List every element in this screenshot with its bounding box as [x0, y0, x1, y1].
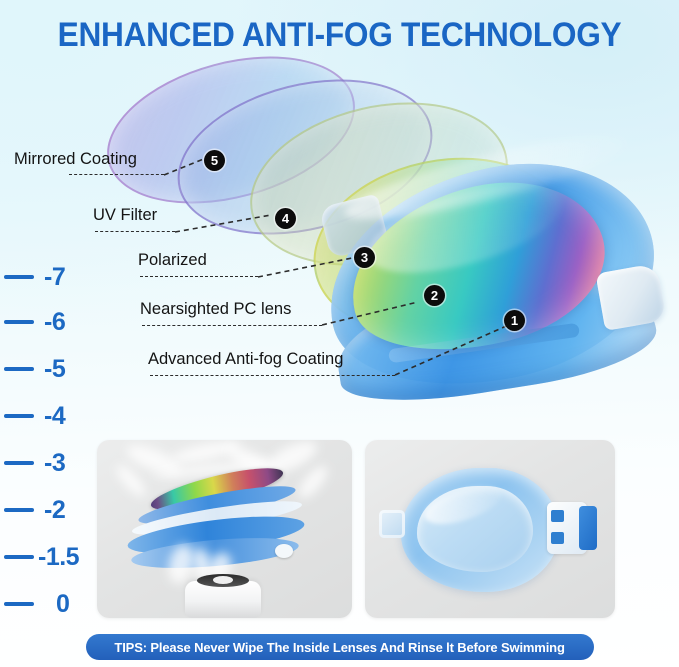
- callout-leader-diagonal: [175, 206, 273, 236]
- scale-row: -5: [0, 354, 65, 384]
- scale-row: -1.5: [0, 542, 79, 572]
- scale-tick-icon: [4, 367, 34, 371]
- scale-row: -2: [0, 495, 65, 525]
- scale-value: -7: [44, 263, 65, 292]
- callout-label: Polarized: [138, 251, 207, 270]
- fog-test-photo: [97, 440, 352, 618]
- callout-leader-diagonal: [395, 318, 513, 378]
- callout-badge: 3: [354, 247, 375, 268]
- scale-value: -6: [44, 308, 65, 337]
- scale-tick-icon: [4, 461, 34, 465]
- callout-leader-diagonal: [164, 148, 208, 178]
- callout-badge: 4: [275, 208, 296, 229]
- scale-value: 0: [56, 590, 69, 619]
- steam-wisp-icon: [112, 461, 149, 500]
- scale-value: -1.5: [38, 543, 79, 572]
- scale-value: -4: [44, 402, 65, 431]
- scale-row: -6: [0, 307, 65, 337]
- callout-leader-line: [150, 375, 395, 376]
- buckle-slot-icon: [551, 510, 564, 522]
- inside-lens-photo: [365, 440, 615, 618]
- infographic-canvas: ENHANCED ANTI-FOG TECHNOLOGY -7 -6 -5 -4…: [0, 0, 679, 667]
- scale-tick-icon: [4, 555, 34, 559]
- callout-badge: 2: [424, 285, 445, 306]
- scale-tick-icon: [4, 508, 34, 512]
- swim-goggle-product: [300, 140, 679, 420]
- photo-goggle-clip: [275, 544, 293, 558]
- callout-leader-line: [142, 325, 322, 326]
- callout-label: Advanced Anti-fog Coating: [148, 350, 343, 369]
- steam-wisp-icon: [294, 462, 332, 503]
- callout-leader-line: [95, 231, 175, 232]
- callout-label: Mirrored Coating: [14, 150, 137, 169]
- scale-row: 0: [0, 589, 69, 619]
- callout-badge: 5: [204, 150, 225, 171]
- scale-tick-icon: [4, 275, 34, 279]
- photo-strap-buckle-left: [379, 510, 405, 538]
- scale-value: -5: [44, 355, 65, 384]
- photo-goggle-strap: [579, 506, 597, 550]
- callout-label: UV Filter: [93, 206, 157, 225]
- buckle-slot-icon: [551, 532, 564, 544]
- callout-leader-diagonal: [258, 250, 354, 282]
- scale-value: -2: [44, 496, 65, 525]
- diopter-scale: -7 -6 -5 -4 -3 -2 -1.5 0: [0, 258, 92, 628]
- scale-row: -7: [0, 262, 65, 292]
- tips-text: TIPS: Please Never Wipe The Inside Lense…: [115, 640, 565, 655]
- scale-tick-icon: [4, 602, 34, 606]
- humidifier-vent: [213, 576, 233, 584]
- scale-value: -3: [44, 449, 65, 478]
- page-title: ENHANCED ANTI-FOG TECHNOLOGY: [24, 16, 655, 55]
- scale-tick-icon: [4, 414, 34, 418]
- callout-leader-line: [140, 276, 258, 277]
- scale-tick-icon: [4, 320, 34, 324]
- scale-row: -4: [0, 401, 65, 431]
- callout-label: Nearsighted PC lens: [140, 300, 291, 319]
- scale-row: -3: [0, 448, 65, 478]
- callout-leader-line: [69, 174, 164, 175]
- tips-banner: TIPS: Please Never Wipe The Inside Lense…: [86, 634, 594, 660]
- callout-badge: 1: [504, 310, 525, 331]
- goggle-strap-clip: [595, 263, 666, 331]
